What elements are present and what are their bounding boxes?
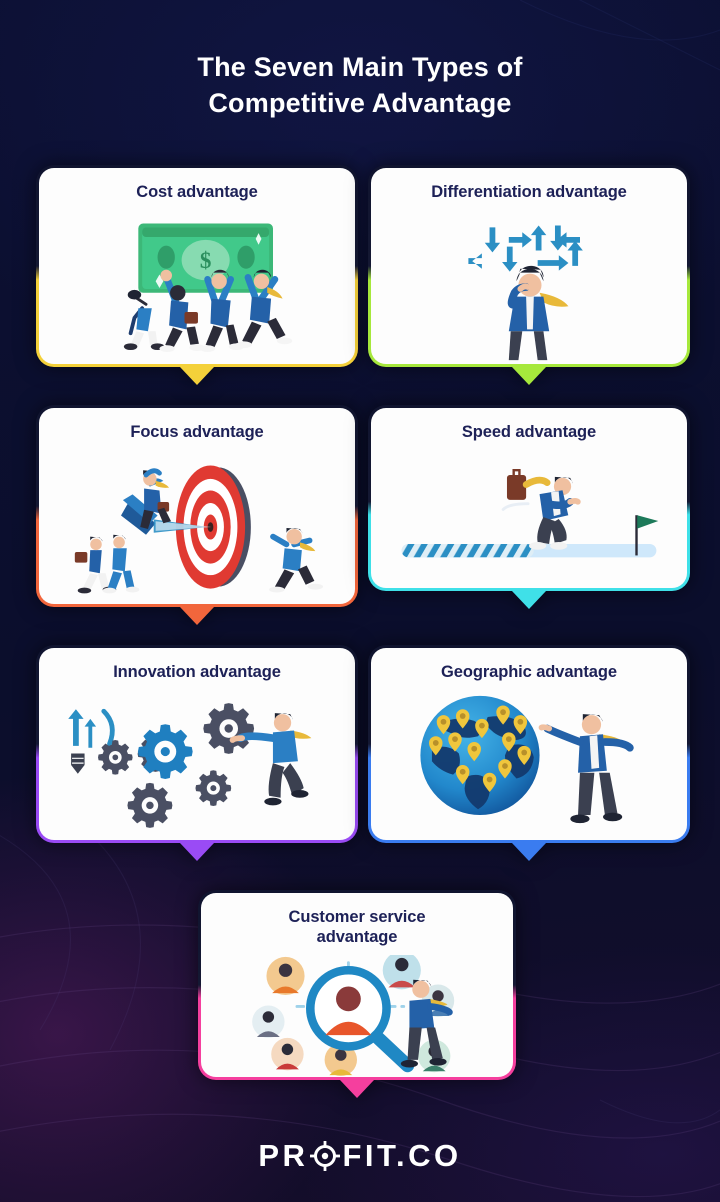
illustration-globe-with-location-pins-and-man: [371, 692, 687, 840]
card-title-innovation-advantage: Innovation advantage: [49, 662, 345, 682]
page-title: The Seven Main Types of Competitive Adva…: [0, 50, 720, 121]
infographic-poster: The Seven Main Types of Competitive Adva…: [0, 0, 720, 1202]
card-surface-customer-service-advantage: Customer service advantage: [201, 893, 513, 1077]
card-surface-geographic-advantage: Geographic advantage: [371, 648, 687, 840]
card-surface-focus-advantage: Focus advantage: [39, 408, 355, 604]
card-surface-innovation-advantage: Innovation advantage: [39, 648, 355, 840]
arrow-down-innovation-advantage: [180, 843, 214, 861]
illustration-running-businessman-progress-bar-flag: [371, 452, 687, 588]
illustration-man-pushing-gears: [39, 692, 355, 840]
card-surface-speed-advantage: Speed advantage: [371, 408, 687, 588]
logo-text-part-2: FIT.CO: [342, 1138, 461, 1174]
card-title-focus-advantage: Focus advantage: [49, 422, 345, 442]
card-geographic-advantage[interactable]: Geographic advantage: [368, 645, 690, 843]
card-differentiation-advantage[interactable]: Differentiation advantage: [368, 165, 690, 367]
card-surface-differentiation-advantage: Differentiation advantage: [371, 168, 687, 364]
page-title-line-1: The Seven Main Types of: [0, 50, 720, 86]
svg-text:$: $: [200, 247, 212, 273]
page-title-line-2: Competitive Advantage: [0, 86, 720, 122]
illustration-dollar-bill-lifted-by-team: $: [39, 212, 355, 364]
card-surface-cost-advantage: Cost advantage $: [39, 168, 355, 364]
card-title-cost-advantage: Cost advantage: [49, 182, 345, 202]
card-title-customer-service-advantage: Customer service advantage: [211, 907, 503, 947]
illustration-man-thinking-with-direction-arrows: [371, 212, 687, 364]
arrow-down-cost-advantage: [180, 367, 214, 385]
card-focus-advantage[interactable]: Focus advantage: [36, 405, 358, 607]
arrow-down-differentiation-advantage: [512, 367, 546, 385]
card-title-speed-advantage: Speed advantage: [381, 422, 677, 442]
card-innovation-advantage[interactable]: Innovation advantage: [36, 645, 358, 843]
arrow-down-speed-advantage: [512, 591, 546, 609]
card-speed-advantage[interactable]: Speed advantage: [368, 405, 690, 591]
arrow-down-focus-advantage: [180, 607, 214, 625]
profit-co-logo[interactable]: PR FIT.CO: [0, 1138, 720, 1174]
card-title-line-2: advantage: [211, 927, 503, 947]
card-title-differentiation-advantage: Differentiation advantage: [381, 182, 677, 202]
target-icon: [310, 1141, 340, 1171]
arrow-down-customer-service-advantage: [340, 1080, 374, 1098]
arrow-down-geographic-advantage: [512, 843, 546, 861]
logo-text-part-1: PR: [258, 1138, 308, 1174]
card-title-geographic-advantage: Geographic advantage: [381, 662, 677, 682]
illustration-dart-hitting-bullseye-target: [39, 452, 355, 604]
illustration-magnifier-over-customer-avatars: [201, 955, 513, 1077]
card-title-line-1: Customer service: [211, 907, 503, 927]
card-customer-service-advantage[interactable]: Customer service advantage: [198, 890, 516, 1080]
card-cost-advantage[interactable]: Cost advantage $: [36, 165, 358, 367]
